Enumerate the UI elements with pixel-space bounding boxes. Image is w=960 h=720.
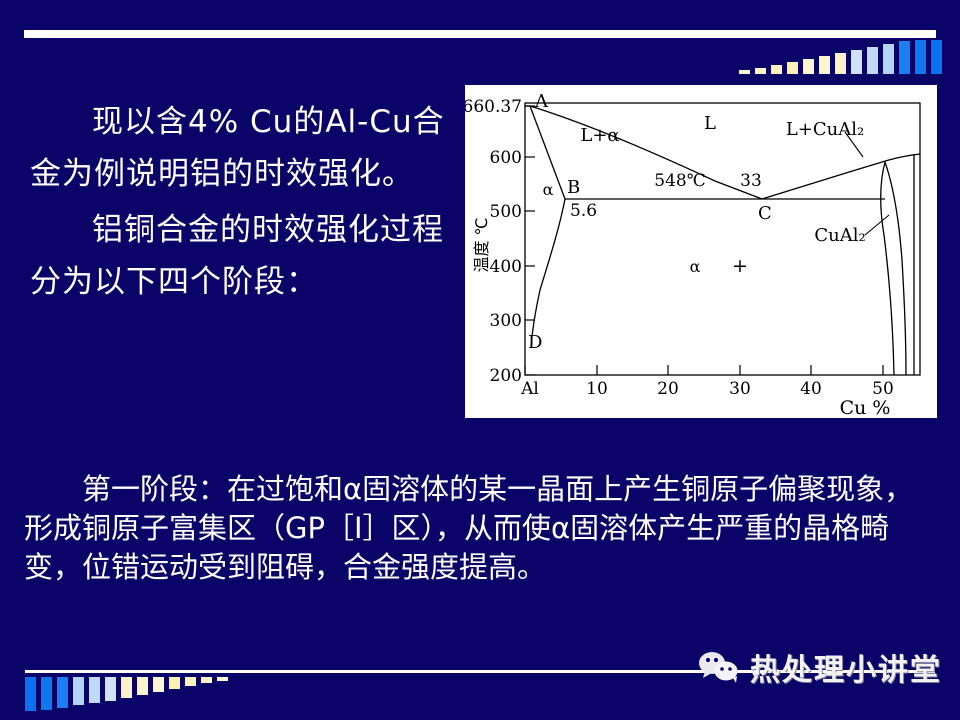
brand-name: 热处理小讲堂 bbox=[750, 645, 942, 689]
y-tick-660: 660.37 bbox=[465, 97, 522, 117]
decoration-bar-8 bbox=[153, 677, 164, 692]
y-tick-300: 300 bbox=[490, 311, 522, 331]
x-tick-10: 10 bbox=[586, 379, 608, 399]
decoration-bar-4 bbox=[89, 677, 100, 703]
region-label-L-alpha: L+α bbox=[580, 125, 619, 146]
phase-diagram-panel: 200 300 400 500 600 660.37 Al 10 20 30 4… bbox=[465, 85, 937, 418]
y-tick-400: 400 bbox=[490, 257, 522, 277]
region-label-L: L bbox=[704, 113, 716, 134]
bottom-decoration-bars bbox=[25, 677, 228, 711]
cual2-left-boundary bbox=[881, 162, 894, 375]
region-label-cual2: CuAl₂ bbox=[814, 225, 865, 246]
point-label-C: C bbox=[758, 203, 772, 224]
top-divider-rule bbox=[24, 30, 936, 38]
x-tick-al: Al bbox=[520, 379, 539, 399]
phase-region-labels: L L+α L+CuAl₂ α α + CuAl₂ bbox=[543, 113, 866, 277]
y-tick-200: 200 bbox=[490, 366, 522, 386]
decoration-bar-6 bbox=[121, 677, 132, 698]
y-tick-600: 600 bbox=[490, 148, 522, 168]
point-labels: A B C D bbox=[528, 91, 772, 353]
decoration-bar-0 bbox=[25, 677, 36, 711]
liquidus-al-curve bbox=[530, 106, 762, 199]
decoration-bar-7 bbox=[851, 50, 862, 74]
top-decoration-bars bbox=[739, 40, 942, 74]
al-cu-phase-diagram: 200 300 400 500 600 660.37 Al 10 20 30 4… bbox=[465, 85, 937, 418]
decoration-bar-2 bbox=[771, 65, 782, 74]
point-label-A: A bbox=[534, 91, 549, 112]
x-axis-ticks bbox=[525, 365, 883, 375]
x-tick-20: 20 bbox=[657, 379, 679, 399]
decoration-bar-9 bbox=[883, 44, 894, 74]
x-tick-30: 30 bbox=[729, 379, 751, 399]
wechat-icon bbox=[696, 650, 742, 684]
intro-text-block: 现以含4% Cu的Al-Cu合金为例说明铝的时效强化。 铝铜合金的时效强化过程分… bbox=[30, 96, 460, 308]
decoration-bar-0 bbox=[739, 70, 750, 74]
decoration-bar-10 bbox=[185, 677, 196, 686]
decoration-bar-10 bbox=[899, 41, 910, 74]
decoration-bar-1 bbox=[755, 68, 766, 74]
annotation-33: 33 bbox=[740, 171, 762, 191]
solvus-curve bbox=[531, 199, 565, 348]
decoration-bar-8 bbox=[867, 47, 878, 74]
region-label-plus: + bbox=[732, 255, 748, 277]
decoration-bar-11 bbox=[201, 677, 212, 683]
decoration-bar-2 bbox=[57, 677, 68, 708]
decoration-bar-9 bbox=[169, 677, 180, 689]
decoration-bar-3 bbox=[787, 62, 798, 74]
x-tick-40: 40 bbox=[800, 379, 822, 399]
decoration-bar-5 bbox=[105, 677, 116, 701]
body-paragraph: 第一阶段：在过饱和α固溶体的某一晶面上产生铜原子偏聚现象，形成铜原子富集区（GP… bbox=[24, 470, 938, 587]
x-axis-title: Cu % bbox=[840, 397, 891, 418]
point-label-B: B bbox=[567, 177, 580, 198]
region-label-alpha-mid: α bbox=[690, 257, 701, 276]
decoration-bar-5 bbox=[819, 56, 830, 74]
decoration-bar-12 bbox=[931, 40, 942, 74]
decoration-bar-4 bbox=[803, 59, 814, 74]
y-tick-500: 500 bbox=[490, 202, 522, 222]
decoration-bar-6 bbox=[835, 53, 846, 74]
brand-watermark: 热处理小讲堂 bbox=[696, 644, 942, 690]
decoration-bar-1 bbox=[41, 677, 52, 710]
decoration-bar-11 bbox=[915, 40, 926, 74]
decoration-bar-7 bbox=[137, 677, 148, 695]
leader-cual2 bbox=[865, 215, 889, 235]
decoration-bar-3 bbox=[73, 677, 84, 705]
region-label-alpha-left: α bbox=[543, 180, 554, 199]
chart-annotations: 548℃ 5.6 33 bbox=[570, 171, 762, 221]
y-axis-title: 温度 ℃ bbox=[472, 217, 491, 272]
liquidus-cual2-curve bbox=[762, 154, 920, 199]
x-tick-50: 50 bbox=[872, 379, 894, 399]
point-label-D: D bbox=[528, 332, 542, 353]
decoration-bar-12 bbox=[217, 677, 228, 681]
slide-root: 现以含4% Cu的Al-Cu合金为例说明铝的时效强化。 铝铜合金的时效强化过程分… bbox=[0, 0, 960, 720]
annotation-eutectic-temp: 548℃ bbox=[654, 171, 705, 191]
region-label-L-cual2: L+CuAl₂ bbox=[786, 119, 864, 140]
x-tick-labels: Al 10 20 30 40 50 bbox=[520, 379, 894, 399]
intro-paragraph-1: 现以含4% Cu的Al-Cu合金为例说明铝的时效强化。 bbox=[30, 96, 460, 200]
annotation-5-6: 5.6 bbox=[570, 201, 597, 221]
intro-paragraph-2: 铝铜合金的时效强化过程分为以下四个阶段： bbox=[30, 204, 460, 308]
